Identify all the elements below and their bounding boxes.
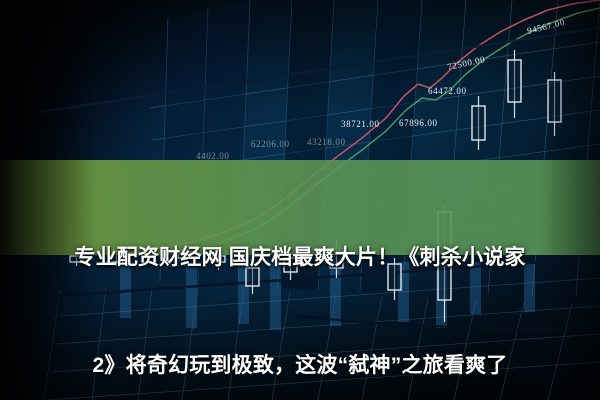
headline-line-1: 专业配资财经网 国庆档最爽大片！《刺杀小说家: [6, 240, 594, 276]
banner-headline: 专业配资财经网 国庆档最爽大片！《刺杀小说家 2》将奇幻玩到极致，这波“弑神”之…: [0, 168, 600, 400]
stock-news-banner: 94567.0072500.0064472.0038721.0067896.00…: [0, 0, 600, 400]
headline-line-2: 2》将奇幻玩到极致，这波“弑神”之旅看爽了: [6, 348, 594, 384]
